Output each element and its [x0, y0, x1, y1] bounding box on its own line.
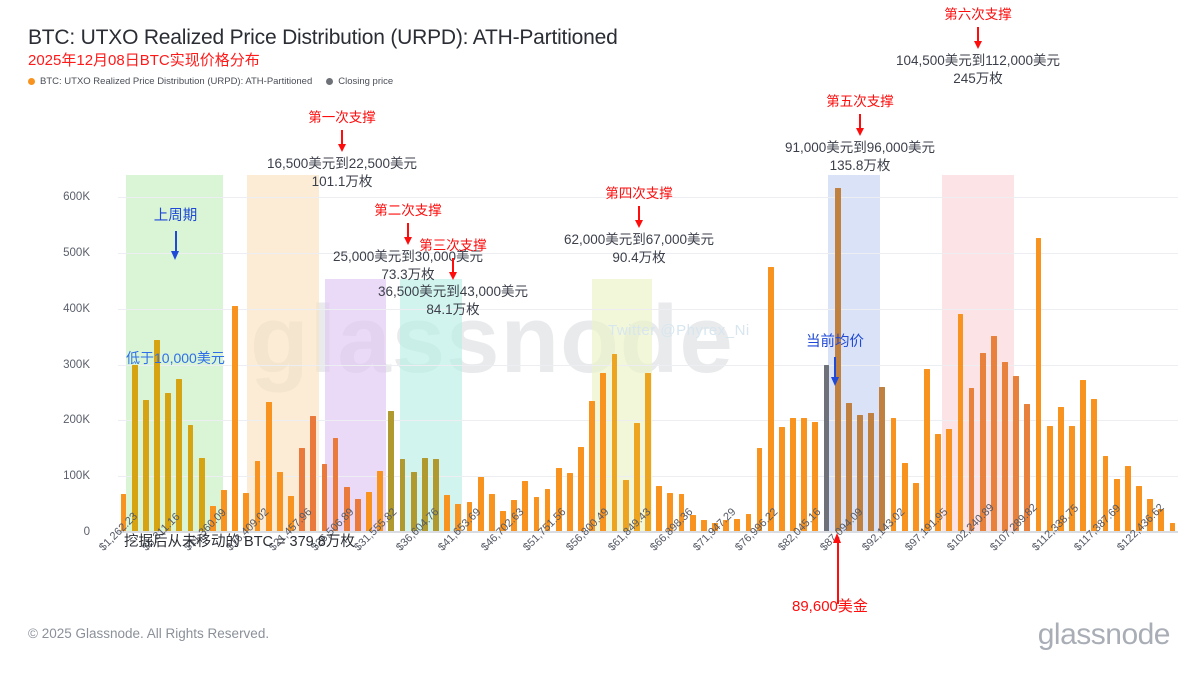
copyright-text: © 2025 Glassnode. All Rights Reserved.	[28, 626, 269, 641]
legend-item-closing-price[interactable]: Closing price	[326, 76, 393, 87]
chart-bar[interactable]	[355, 499, 361, 532]
chart-bar[interactable]	[924, 369, 930, 532]
annotation-title: 第一次支撑	[172, 110, 512, 126]
chart-bar[interactable]	[176, 379, 182, 532]
annotation-support-4: 第四次支撑 62,000美元到67,000美元 90.4万枚	[472, 186, 806, 267]
legend-item-urpd[interactable]: BTC: UTXO Realized Price Distribution (U…	[28, 76, 312, 87]
chart-bar[interactable]	[589, 401, 595, 532]
chart-bar[interactable]	[734, 519, 740, 532]
annotation-support-5: 第五次支撑 91,000美元到96,000美元 135.8万枚	[690, 94, 1030, 175]
annotation-below-10k: 低于10,000美元	[126, 348, 225, 368]
legend-label: BTC: UTXO Realized Price Distribution (U…	[40, 76, 312, 87]
annotation-amount: 135.8万枚	[690, 157, 1030, 175]
chart-bar[interactable]	[868, 413, 874, 532]
chart-bar[interactable]	[1013, 376, 1019, 532]
chart-bar[interactable]	[656, 486, 662, 532]
chart-bar[interactable]	[489, 494, 495, 532]
chart-bar[interactable]	[143, 400, 149, 532]
annotation-amount: 90.4万枚	[472, 249, 806, 267]
annotation-title: 上周期	[108, 204, 243, 225]
chart-bar[interactable]	[969, 388, 975, 532]
annotation-never-moved: 挖掘后从未移动的 BTC = 379.8万枚	[124, 530, 355, 551]
closing-price-label: 89,600美金	[792, 595, 868, 616]
y-axis-tick-label: 0	[30, 526, 90, 538]
annotation-range: 36,500美元到43,000美元	[290, 283, 616, 301]
chart-bar[interactable]	[154, 340, 160, 532]
glassnode-logo: glassnode	[1038, 618, 1170, 652]
annotation-current-avg: 当前均价	[770, 330, 900, 387]
y-axis-tick-label: 100K	[30, 470, 90, 482]
chart-bar[interactable]	[232, 306, 238, 532]
annotation-support-1: 第一次支撑 16,500美元到22,500美元 101.1万枚	[172, 110, 512, 191]
annotation-range: 104,500美元到112,000美元	[808, 52, 1148, 70]
chart-bar[interactable]	[902, 463, 908, 532]
chart-bar[interactable]	[779, 427, 785, 532]
y-axis-tick-label: 300K	[30, 359, 90, 371]
chart-bar[interactable]	[199, 458, 205, 532]
chart-bar[interactable]	[612, 354, 618, 533]
chart-bar[interactable]	[768, 267, 774, 532]
legend-label: Closing price	[338, 76, 393, 87]
annotation-range: 62,000美元到67,000美元	[472, 231, 806, 249]
annotation-title: 第四次支撑	[472, 186, 806, 202]
chart-bar[interactable]	[1036, 238, 1042, 532]
y-axis-tick-label: 200K	[30, 414, 90, 426]
annotation-prev-cycle: 上周期	[108, 204, 243, 261]
chart-bar[interactable]	[567, 473, 573, 532]
annotation-title: 第五次支撑	[690, 94, 1030, 110]
annotation-title: 当前均价	[770, 330, 900, 351]
chart-bar[interactable]	[790, 418, 796, 532]
x-axis-labels: $1,262.23$6,311.16$11,360.09$16,409.02$2…	[0, 545, 1200, 665]
chart-bar[interactable]	[478, 477, 484, 532]
chart-bar[interactable]	[913, 483, 919, 532]
chart-bar[interactable]	[132, 365, 138, 532]
chart-bar[interactable]	[991, 336, 997, 532]
annotation-amount: 101.1万枚	[172, 173, 512, 191]
chart-bar[interactable]	[1080, 380, 1086, 532]
chart-bar[interactable]	[165, 393, 171, 532]
chart-bar[interactable]	[578, 447, 584, 532]
twitter-watermark: Twitter @Phyrex_Ni	[608, 322, 750, 339]
annotation-range: 16,500美元到22,500美元	[172, 155, 512, 173]
legend-dot-icon	[28, 78, 35, 85]
chart-bar[interactable]	[444, 495, 450, 532]
chart-bar[interactable]	[1047, 426, 1053, 532]
chart-bar[interactable]	[958, 314, 964, 532]
y-axis-tick-label: 500K	[30, 247, 90, 259]
chart-bar[interactable]	[1091, 399, 1097, 532]
y-axis-tick-label: 400K	[30, 303, 90, 315]
chart-bar[interactable]	[188, 425, 194, 532]
chart-bar[interactable]	[277, 472, 283, 532]
closing-price-bar[interactable]	[824, 365, 830, 532]
chart-bar[interactable]	[879, 387, 885, 532]
annotation-amount: 245万枚	[808, 70, 1148, 88]
chart-bar[interactable]	[400, 459, 406, 532]
y-axis-tick-label: 600K	[30, 191, 90, 203]
chart-bar[interactable]	[522, 481, 528, 532]
legend-dot-icon	[326, 78, 333, 85]
chart-bar[interactable]	[1125, 466, 1131, 532]
annotation-title: 第六次支撑	[808, 7, 1148, 23]
chart-bar[interactable]	[1002, 362, 1008, 532]
annotation-amount: 84.1万枚	[290, 301, 616, 319]
annotation-support-6: 第六次支撑 104,500美元到112,000美元 245万枚	[808, 7, 1148, 88]
annotation-range: 91,000美元到96,000美元	[690, 139, 1030, 157]
chart-bar[interactable]	[322, 464, 328, 532]
